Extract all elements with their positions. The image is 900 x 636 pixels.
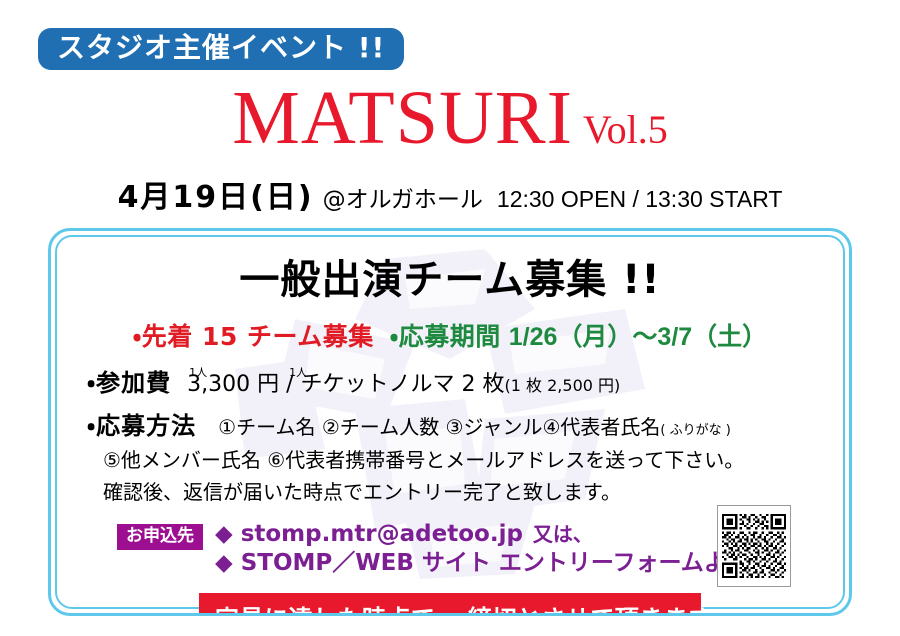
application-period-value: 1/26（月）〜3/7（土） bbox=[509, 323, 767, 351]
flyer-header: スタジオ主催イベント !! MATSURIVol.5 4月19日(日)@オルガホ… bbox=[0, 0, 900, 222]
contact-email[interactable]: ◆ stomp.mtr@adetoo.jp bbox=[215, 521, 523, 547]
application-period-label: ・応募期間 bbox=[390, 322, 501, 351]
closing-notice-banner: 定員に達した時点で、 締切とさせて頂きます。 bbox=[199, 593, 701, 616]
contact-email-suffix: 又は、 bbox=[533, 522, 593, 546]
fee-amount: 3,300 円 / チケットノルマ 2 枚 bbox=[187, 372, 504, 397]
fee-row: ・参加費 1人 1人 3,300 円 / チケットノルマ 2 枚(1 枚 2,5… bbox=[51, 363, 849, 398]
event-volume: Vol.5 bbox=[583, 107, 668, 152]
event-date: 4月19日(日) bbox=[118, 180, 314, 215]
studio-event-badge: スタジオ主催イベント !! bbox=[38, 28, 404, 70]
howto-line1-text: ①チーム名 ②チーム人数 ③ジャンル④代表者氏名 bbox=[218, 415, 660, 439]
event-title-row: MATSURIVol.5 bbox=[0, 80, 900, 156]
fee-superscript-per-person-1: 1人 bbox=[189, 366, 207, 379]
qr-code[interactable] bbox=[717, 505, 791, 587]
contact-badge: お申込先 bbox=[117, 524, 203, 550]
fee-superscript-per-person-2: 1人 bbox=[289, 366, 307, 379]
howto-row: ・応募方法 ①チーム名 ②チーム人数 ③ジャンル④代表者氏名( ふりがな ) bbox=[51, 406, 849, 441]
howto-items-line1: ①チーム名 ②チーム人数 ③ジャンル④代表者氏名( ふりがな ) bbox=[218, 411, 731, 440]
contact-web-line[interactable]: ◆ STOMP／WEB サイト エントリーフォームより bbox=[215, 549, 749, 578]
fee-label: ・参加費 bbox=[87, 363, 171, 398]
event-venue: @オルガホール bbox=[323, 187, 483, 213]
howto-label: ・応募方法 bbox=[87, 406, 196, 441]
event-date-row: 4月19日(日)@オルガホール12:30 OPEN / 13:30 START bbox=[0, 172, 900, 216]
recruitment-heading: 一般出演チーム募集 !! bbox=[51, 247, 849, 305]
event-title: MATSURI bbox=[232, 76, 573, 160]
howto-line1-furigana: ( ふりがな ) bbox=[660, 423, 730, 438]
howto-line3: 確認後、返信が届いた時点でエントリー完了と致します。 bbox=[51, 476, 849, 505]
fee-note: (1 枚 2,500 円) bbox=[505, 376, 621, 395]
recruit-count-text: ・先着 15 チーム募集 bbox=[133, 322, 374, 351]
howto-line2: ⑤他メンバー氏名 ⑥代表者携帯番号とメールアドレスを送って下さい。 bbox=[51, 444, 849, 473]
recruitment-terms-line: ・先着 15 チーム募集・応募期間1/26（月）〜3/7（土） bbox=[51, 317, 849, 353]
fee-value-group: 1人 1人 3,300 円 / チケットノルマ 2 枚(1 枚 2,500 円) bbox=[187, 366, 620, 398]
recruitment-box: 一般出演チーム募集 !! ・先着 15 チーム募集・応募期間1/26（月）〜3/… bbox=[48, 228, 852, 616]
qr-code-icon bbox=[722, 510, 786, 582]
contact-lines: ◆ stomp.mtr@adetoo.jp又は、 ◆ STOMP／WEB サイト… bbox=[215, 520, 749, 579]
event-time: 12:30 OPEN / 13:30 START bbox=[497, 186, 783, 212]
contact-email-line[interactable]: ◆ stomp.mtr@adetoo.jp又は、 bbox=[215, 520, 749, 549]
